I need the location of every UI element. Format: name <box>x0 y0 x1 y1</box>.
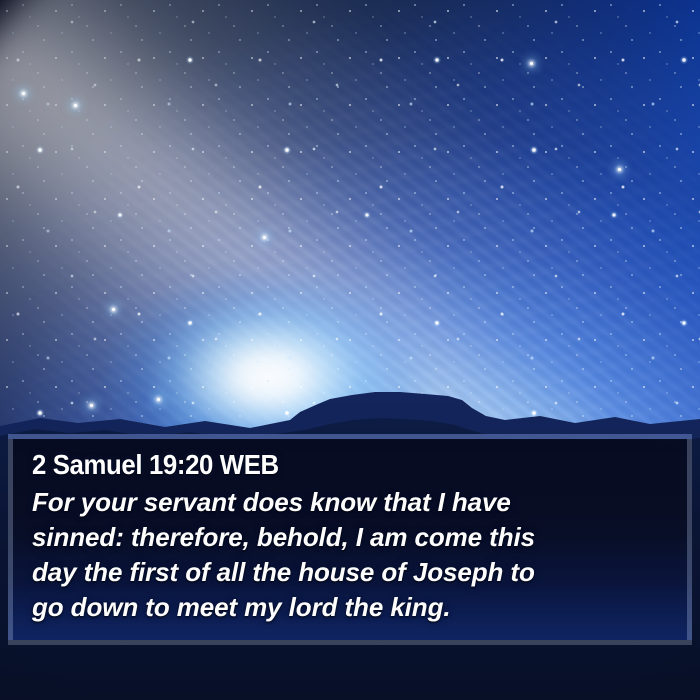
verse-line: sinned: therefore, behold, I am come thi… <box>32 520 687 555</box>
verse-overlay-panel: 2 Samuel 19:20 WEB For your servant does… <box>8 434 692 645</box>
verse-line: go down to meet my lord the king. <box>32 590 687 625</box>
verse-text-block: For your servant does know that I have s… <box>32 485 687 625</box>
verse-image: 2 Samuel 19:20 WEB For your servant does… <box>0 0 700 700</box>
verse-reference: 2 Samuel 19:20 WEB <box>32 448 635 482</box>
verse-line: day the first of all the house of Joseph… <box>32 555 687 590</box>
verse-line: For your servant does know that I have <box>32 485 687 520</box>
